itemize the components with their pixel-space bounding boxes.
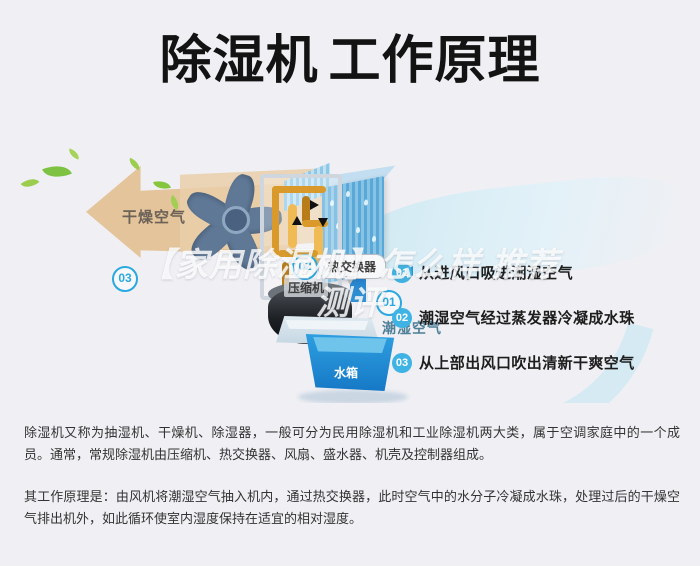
- badge-02-heat-exchanger: 02: [292, 254, 318, 280]
- flow-arrow-icon: [310, 200, 319, 210]
- page-title: 除湿机工作原理: [0, 28, 700, 94]
- list-item: 01 从进风口吸进潮湿空气: [392, 250, 692, 295]
- leaf-icon: [42, 160, 72, 184]
- leaf-icon: [67, 148, 81, 159]
- list-item: 03 从上部出风口吹出清新干爽空气: [392, 340, 692, 385]
- flow-arrow-icon: [292, 216, 302, 225]
- page-title-part1: 除湿机: [159, 32, 318, 90]
- description-paragraph-1: 除湿机又称为抽湿机、干燥机、除湿器，一般可分为民用除湿机和工业除湿机两大类，属于…: [24, 422, 680, 466]
- step-text: 从上部出风口吹出清新干爽空气: [419, 352, 635, 373]
- step-list: 01 从进风口吸进潮湿空气 02 潮湿空气经过蒸发器冷凝成水珠 03 从上部出风…: [392, 250, 692, 385]
- description-paragraph-2: 其工作原理是：由风机将潮湿空气抽入机内，通过热交换器，此时空气中的水分子冷凝成水…: [24, 486, 680, 530]
- water-tank-label: 水箱: [334, 364, 358, 381]
- step-text: 从进风口吸进潮湿空气: [419, 262, 573, 283]
- leaf-icon: [21, 174, 40, 192]
- step-number: 02: [392, 308, 412, 328]
- callout-tail-icon: [345, 276, 355, 285]
- page-title-part2: 工作原理: [329, 32, 541, 90]
- badge-03-dry-air: 03: [112, 266, 138, 292]
- list-item: 02 潮湿空气经过蒸发器冷凝成水珠: [392, 295, 692, 340]
- drip-tray-edge: [282, 320, 372, 330]
- flow-arrow-icon: [318, 218, 328, 227]
- fan-hub: [222, 206, 250, 234]
- water-tank-rim: [310, 337, 390, 353]
- compressor-label: 压缩机: [284, 278, 328, 297]
- step-number: 01: [392, 263, 412, 283]
- step-number: 03: [392, 353, 412, 373]
- water-tank-shadow: [298, 390, 408, 403]
- step-text: 潮湿空气经过蒸发器冷凝成水珠: [419, 307, 635, 328]
- infographic-page: 除湿机工作原理 干燥空气: [0, 0, 700, 566]
